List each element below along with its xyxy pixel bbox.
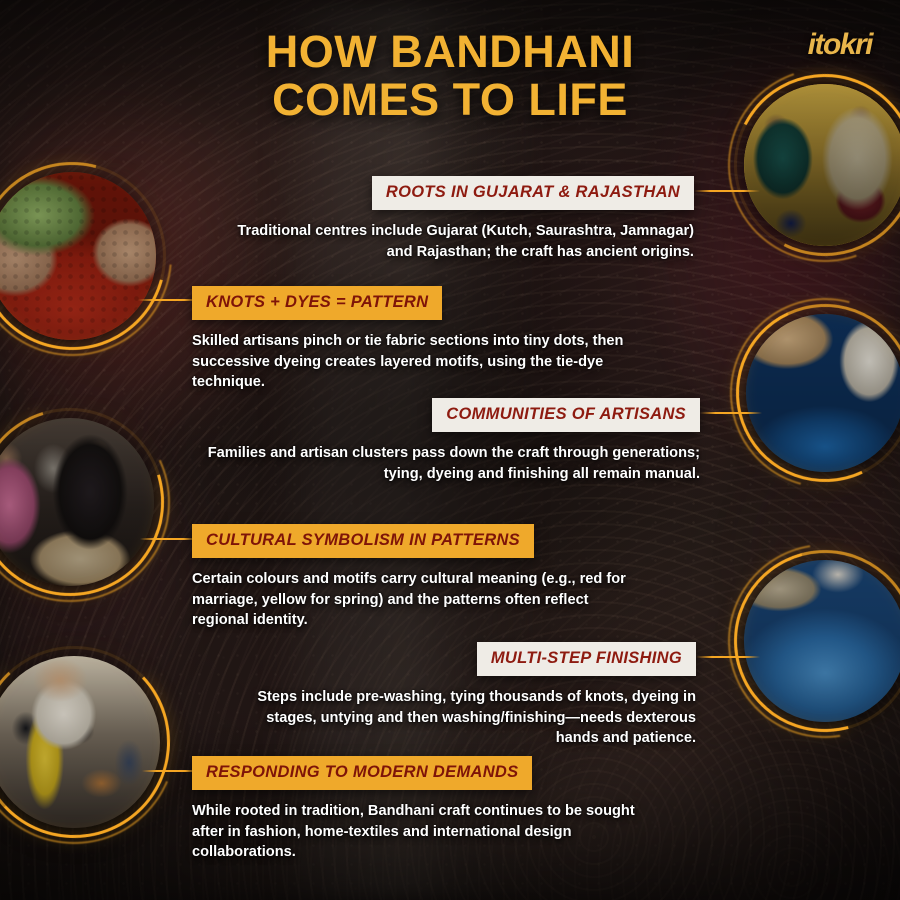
section-block-1: ROOTS IN GUJARAT & RAJASTHAN Traditional… — [230, 176, 694, 262]
section-body-3: Families and artisan clusters pass down … — [200, 443, 700, 484]
section-block-2: KNOTS + DYES = PATTERN Skilled artisans … — [192, 286, 662, 393]
section-heading-3: COMMUNITIES OF ARTISANS — [432, 398, 700, 432]
photo-medallion-3 — [746, 314, 900, 472]
medallion-ring-accent-5 — [690, 506, 900, 777]
section-body-2: Skilled artisans pinch or tie fabric sec… — [192, 331, 662, 393]
connector-line-3 — [700, 412, 762, 414]
section-heading-1: ROOTS IN GUJARAT & RAJASTHAN — [372, 176, 694, 210]
connector-line-1 — [694, 190, 760, 192]
medallion-ring-accent-3 — [695, 263, 900, 523]
section-block-6: RESPONDING TO MODERN DEMANDS While roote… — [192, 756, 652, 863]
section-body-6: While rooted in tradition, Bandhani craf… — [192, 801, 652, 863]
connector-line-5 — [696, 656, 760, 658]
photo-medallion-5 — [744, 560, 900, 722]
connector-line-2 — [138, 299, 200, 301]
section-heading-5: MULTI-STEP FINISHING — [477, 642, 696, 676]
medallion-ring-accent-2 — [0, 115, 213, 397]
section-block-4: CULTURAL SYMBOLISM IN PATTERNS Certain c… — [192, 524, 642, 631]
section-body-4: Certain colours and motifs carry cultura… — [192, 569, 642, 631]
brand-logo[interactable]: itokri — [808, 30, 872, 60]
photo-medallion-4 — [0, 418, 154, 586]
section-heading-2: KNOTS + DYES = PATTERN — [192, 286, 442, 320]
section-body-1: Traditional centres include Gujarat (Kut… — [230, 221, 694, 262]
medallion-ring-accent-6 — [0, 609, 207, 875]
photo-medallion-2 — [0, 172, 156, 340]
section-block-3: COMMUNITIES OF ARTISANS Families and art… — [200, 398, 700, 484]
connector-line-4 — [140, 538, 198, 540]
page-title-line-1: HOW BANDHANI — [266, 26, 634, 77]
section-block-5: MULTI-STEP FINISHING Steps include pre-w… — [248, 642, 696, 749]
medallion-ring-accent-4 — [0, 374, 198, 630]
section-body-5: Steps include pre-washing, tying thousan… — [248, 687, 696, 749]
photo-medallion-1 — [744, 84, 900, 246]
section-heading-4: CULTURAL SYMBOLISM IN PATTERNS — [192, 524, 534, 558]
photo-medallion-6 — [0, 656, 160, 828]
section-heading-6: RESPONDING TO MODERN DEMANDS — [192, 756, 532, 790]
